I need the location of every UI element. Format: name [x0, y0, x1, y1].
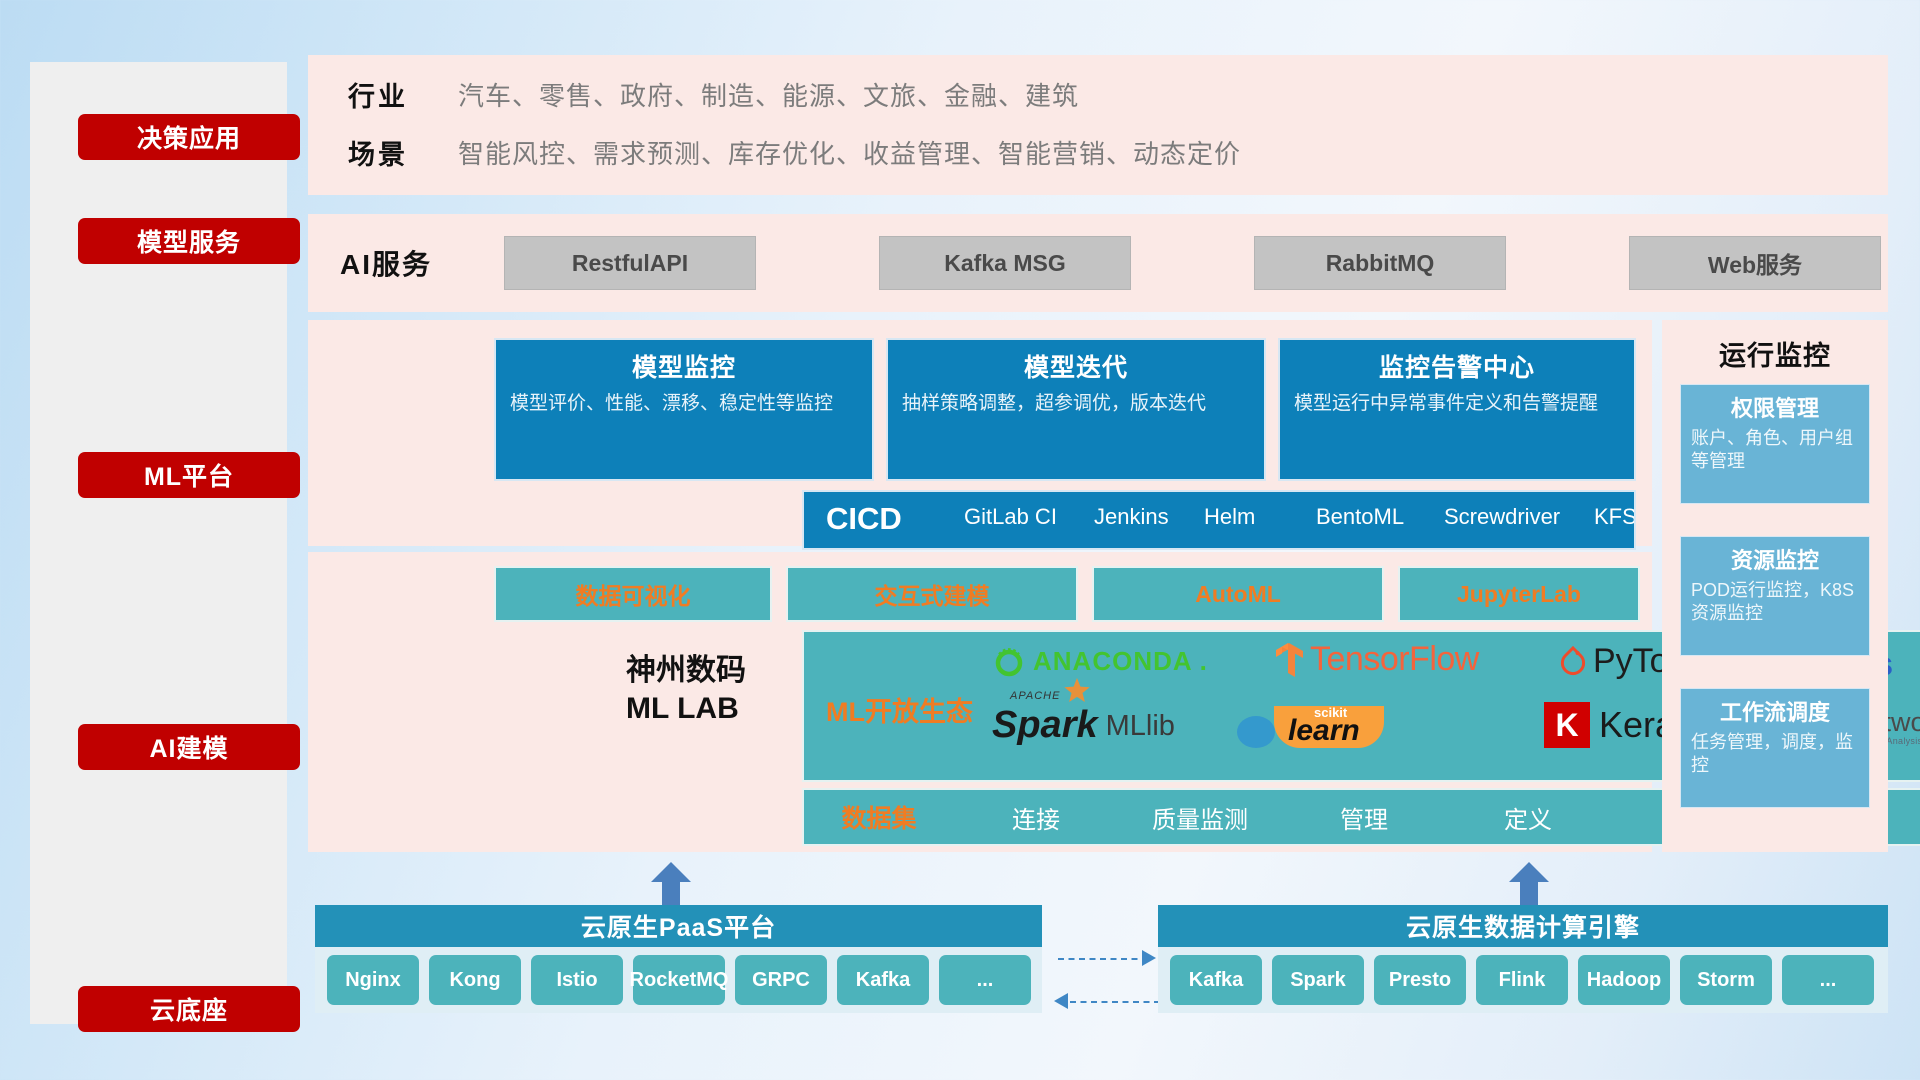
spark-wordmark: Spark	[992, 704, 1098, 746]
keras-mark-icon: K	[1544, 702, 1590, 748]
monitor-card-permissions[interactable]: 权限管理 账户、角色、用户组等管理	[1680, 384, 1870, 504]
mlops-card-title: 监控告警中心	[1294, 348, 1620, 384]
layer-label-ai-modeling[interactable]: AI建模	[78, 724, 300, 770]
runtime-monitoring-panel: 运行监控 权限管理 账户、角色、用户组等管理 资源监控 POD运行监控，K8S资…	[1662, 320, 1888, 852]
tensorflow-mark-icon	[1274, 641, 1306, 679]
data-engine-chip-tray: Kafka Spark Presto Flink Hadoop Storm ..…	[1158, 947, 1888, 1013]
monitor-card-desc: POD运行监控，K8S资源监控	[1691, 579, 1859, 626]
architecture-diagram: 决策应用 模型服务 ML平台 AI建模 云底座 行业 汽车、零售、政府、制造、能…	[0, 0, 1920, 1080]
mlops-card-title: 模型监控	[510, 348, 858, 384]
engine-chip-hadoop[interactable]: Hadoop	[1578, 955, 1670, 1005]
data-engine-title: 云原生数据计算引擎	[1158, 905, 1888, 947]
mlops-card-desc: 模型评价、性能、漂移、稳定性等监控	[510, 391, 858, 416]
keras-mark-letter: K	[1555, 707, 1578, 744]
runtime-monitoring-title: 运行监控	[1662, 334, 1888, 373]
tensorflow-wordmark: TensorFlow	[1310, 640, 1479, 679]
paas-chip-grpc[interactable]: GRPC	[735, 955, 827, 1005]
monitor-card-title: 资源监控	[1691, 543, 1859, 575]
mlops-card-desc: 模型运行中异常事件定义和告警提醒	[1294, 391, 1620, 416]
ai-service-band: AI服务 RestfulAPI Kafka MSG RabbitMQ Web服务	[308, 214, 1888, 312]
scikit-learn-text: learn	[1288, 714, 1360, 748]
monitor-card-resources[interactable]: 资源监控 POD运行监控，K8S资源监控	[1680, 536, 1870, 656]
dataset-item-quality[interactable]: 质量监测	[1118, 800, 1282, 835]
engine-chip-kafka[interactable]: Kafka	[1170, 955, 1262, 1005]
arrow-up-data-engine-icon	[1506, 860, 1552, 906]
modeling-tab-jupyterlab[interactable]: JupyterLab	[1398, 566, 1640, 622]
cicd-item-gitlab-ci[interactable]: GitLab CI	[964, 504, 1074, 529]
scenario-value: 智能风控、需求预测、库存优化、收益管理、智能营销、动态定价	[458, 134, 1241, 171]
monitor-card-desc: 任务管理，调度，监控	[1691, 731, 1859, 778]
mlops-card-model-monitor[interactable]: 模型监控 模型评价、性能、漂移、稳定性等监控	[494, 338, 874, 481]
layer-label-decision[interactable]: 决策应用	[78, 114, 300, 160]
scenario-row: 场景 智能风控、需求预测、库存优化、收益管理、智能营销、动态定价	[348, 133, 1241, 172]
ml-lab-brand: 神州数码 ML LAB	[626, 652, 796, 727]
ai-chip-rabbitmq[interactable]: RabbitMQ	[1254, 236, 1506, 290]
ai-modeling-band: 数据可视化 交互式建模 AutoML JupyterLab 神州数码 ML LA…	[308, 552, 1652, 852]
pytorch-flame-icon	[1559, 645, 1587, 679]
cicd-item-bentoml[interactable]: BentoML	[1316, 504, 1426, 529]
ml-lab-brand-line2: ML LAB	[626, 690, 796, 728]
paas-chip-rocketmq[interactable]: RocketMQ	[633, 955, 725, 1005]
industry-value: 汽车、零售、政府、制造、能源、文旅、金融、建筑	[458, 76, 1079, 113]
engine-chip-more[interactable]: ...	[1782, 955, 1874, 1005]
monitor-card-title: 权限管理	[1691, 391, 1859, 423]
mlops-card-desc: 抽样策略调整，超参调优，版本迭代	[902, 391, 1250, 416]
ml-open-ecosystem-label: ML开放生态	[826, 690, 973, 729]
paas-chip-kafka[interactable]: Kafka	[837, 955, 929, 1005]
anaconda-wordmark: ANACONDA	[1033, 646, 1193, 677]
dataset-item-define[interactable]: 定义	[1446, 800, 1610, 835]
spark-apache-text: APACHE	[1010, 690, 1060, 702]
layer-rail: 决策应用 模型服务 ML平台 AI建模 云底座	[30, 62, 287, 1024]
layer-label-cloud-base[interactable]: 云底座	[78, 986, 300, 1032]
connector-arrow-left-icon	[1052, 991, 1072, 1011]
mlops-card-title: 模型迭代	[902, 348, 1250, 384]
modeling-tab-data-visualization[interactable]: 数据可视化	[494, 566, 772, 622]
spark-mllib-logo: APACHE Spark MLlib	[992, 704, 1175, 747]
ai-service-title: AI服务	[340, 243, 432, 283]
tensorflow-logo: TensorFlow	[1274, 640, 1479, 679]
paas-platform-title: 云原生PaaS平台	[315, 905, 1042, 947]
arrow-up-paas-icon	[648, 860, 694, 906]
dataset-label: 数据集	[804, 799, 954, 835]
engine-chip-storm[interactable]: Storm	[1680, 955, 1772, 1005]
engine-chip-presto[interactable]: Presto	[1374, 955, 1466, 1005]
mlops-band: MLOps 模型监控 模型评价、性能、漂移、稳定性等监控 模型迭代 抽样策略调整…	[308, 320, 1652, 546]
ai-chip-web-service[interactable]: Web服务	[1629, 236, 1881, 290]
industry-scenario-band: 行业 汽车、零售、政府、制造、能源、文旅、金融、建筑 场景 智能风控、需求预测、…	[308, 55, 1888, 195]
cicd-item-helm[interactable]: Helm	[1204, 504, 1314, 529]
cicd-item-jenkins[interactable]: Jenkins	[1094, 504, 1204, 529]
monitor-card-title: 工作流调度	[1691, 695, 1859, 727]
connector-dashed-right	[1058, 958, 1148, 960]
cicd-strip: CICD GitLab CI Jenkins Helm BentoML Scre…	[802, 490, 1636, 550]
paas-chip-tray: Nginx Kong Istio RocketMQ GRPC Kafka ...	[315, 947, 1042, 1013]
connector-dashed-left	[1070, 1001, 1160, 1003]
anaconda-mark-icon	[992, 644, 1026, 678]
paas-chip-istio[interactable]: Istio	[531, 955, 623, 1005]
paas-chip-kong[interactable]: Kong	[429, 955, 521, 1005]
ai-chip-restfulapi[interactable]: RestfulAPI	[504, 236, 756, 290]
cicd-item-screwdriver[interactable]: Screwdriver	[1444, 504, 1554, 529]
engine-chip-spark[interactable]: Spark	[1272, 955, 1364, 1005]
spark-star-icon	[1064, 678, 1090, 704]
monitor-card-workflow[interactable]: 工作流调度 任务管理，调度，监控	[1680, 688, 1870, 808]
ai-chip-kafka-msg[interactable]: Kafka MSG	[879, 236, 1131, 290]
industry-key: 行业	[348, 75, 458, 114]
dataset-item-manage[interactable]: 管理	[1282, 800, 1446, 835]
layer-label-model-service[interactable]: 模型服务	[78, 218, 300, 264]
ml-lab-brand-line1: 神州数码	[626, 652, 796, 690]
paas-chip-more[interactable]: ...	[939, 955, 1031, 1005]
layer-label-ml-platform[interactable]: ML平台	[78, 452, 300, 498]
scenario-key: 场景	[348, 133, 458, 172]
scikit-learn-logo: scikit learn	[1234, 702, 1388, 757]
dataset-item-connect[interactable]: 连接	[954, 800, 1118, 835]
modeling-tab-automl[interactable]: AutoML	[1092, 566, 1384, 622]
mllib-wordmark: MLlib	[1106, 710, 1175, 747]
industry-row: 行业 汽车、零售、政府、制造、能源、文旅、金融、建筑	[348, 75, 1079, 114]
mlops-card-alert-center[interactable]: 监控告警中心 模型运行中异常事件定义和告警提醒	[1278, 338, 1636, 481]
mlops-card-model-iteration[interactable]: 模型迭代 抽样策略调整，超参调优，版本迭代	[886, 338, 1266, 481]
engine-chip-flink[interactable]: Flink	[1476, 955, 1568, 1005]
modeling-tab-interactive-modeling[interactable]: 交互式建模	[786, 566, 1078, 622]
paas-chip-nginx[interactable]: Nginx	[327, 955, 419, 1005]
anaconda-logo: ANACONDA .	[992, 644, 1207, 678]
cicd-item-kfserving[interactable]: KFServing	[1594, 504, 1636, 529]
monitor-card-desc: 账户、角色、用户组等管理	[1691, 427, 1859, 474]
cicd-label: CICD	[826, 501, 902, 537]
